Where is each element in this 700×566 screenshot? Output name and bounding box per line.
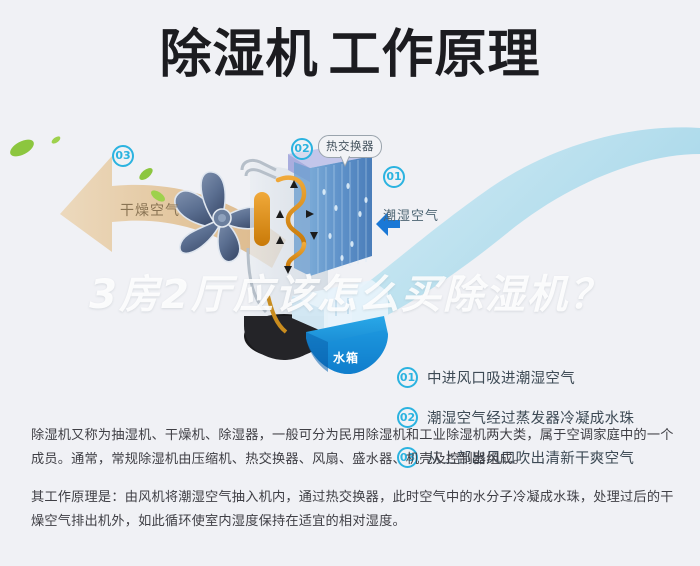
diagram-label-dry-air: 干燥空气 bbox=[120, 200, 180, 220]
diagram-badge-02: 02 bbox=[291, 138, 313, 160]
dehumidifier-unit-icon bbox=[242, 144, 400, 374]
dehumidifier-diagram: 03 干燥空气 02 热交换器 01 潮湿空气 水箱 01 中进风口吸进潮湿空气… bbox=[0, 118, 700, 396]
diagram-badge-03: 03 bbox=[112, 145, 134, 167]
body-paragraph-2: 其工作原理是：由风机将潮湿空气抽入机内，通过热交换器，此时空气中的水分子冷凝成水… bbox=[31, 486, 676, 534]
body-paragraph-1: 除湿机又称为抽湿机、干燥机、除湿器，一般可分为民用除湿机和工业除湿机两大类，属于… bbox=[31, 424, 676, 472]
page-title: 除湿机工作原理 bbox=[0, 22, 700, 88]
diagram-callout-heat-exchanger: 热交换器 bbox=[318, 135, 382, 158]
diagram-label-water-tank: 水箱 bbox=[333, 349, 359, 366]
legend-item: 01 中进风口吸进潮湿空气 bbox=[397, 366, 697, 388]
title-part-2: 工作原理 bbox=[329, 25, 541, 85]
diagram-label-humid-air: 潮湿空气 bbox=[383, 205, 439, 224]
callout-pointer-icon bbox=[340, 156, 350, 167]
legend-badge-01: 01 bbox=[397, 367, 418, 388]
diagram-badge-01: 01 bbox=[383, 166, 405, 188]
title-part-1: 除湿机 bbox=[159, 25, 318, 85]
body-text: 除湿机又称为抽湿机、干燥机、除湿器，一般可分为民用除湿机和工业除湿机两大类，属于… bbox=[31, 424, 676, 548]
legend-label-01: 中进风口吸进潮湿空气 bbox=[427, 367, 575, 388]
infographic-page: 除湿机工作原理 bbox=[0, 0, 700, 566]
